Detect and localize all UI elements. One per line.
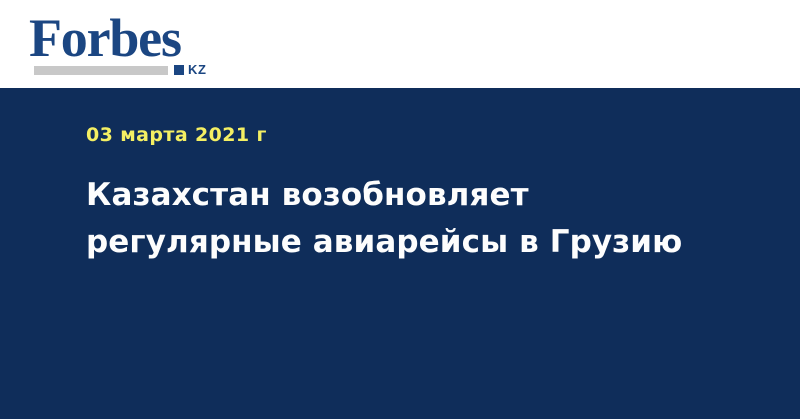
forbes-kz-logo[interactable]: Forbes KZ (29, 11, 229, 81)
article-date: 03 марта 2021 г (86, 124, 746, 146)
logo-gray-bar (34, 66, 168, 75)
logo-square-icon (174, 65, 184, 75)
site-header: Forbes KZ (0, 0, 800, 88)
article-card: Forbes KZ 03 марта 2021 г Казахстан возо… (0, 0, 800, 419)
article-headline[interactable]: Казахстан возобновляет регулярные авиаре… (86, 172, 726, 266)
article-content: 03 марта 2021 г Казахстан возобновляет р… (86, 88, 746, 266)
logo-edition-label: KZ (188, 63, 207, 77)
forbes-wordmark: Forbes (29, 11, 181, 65)
logo-underline-row: KZ (34, 63, 230, 78)
